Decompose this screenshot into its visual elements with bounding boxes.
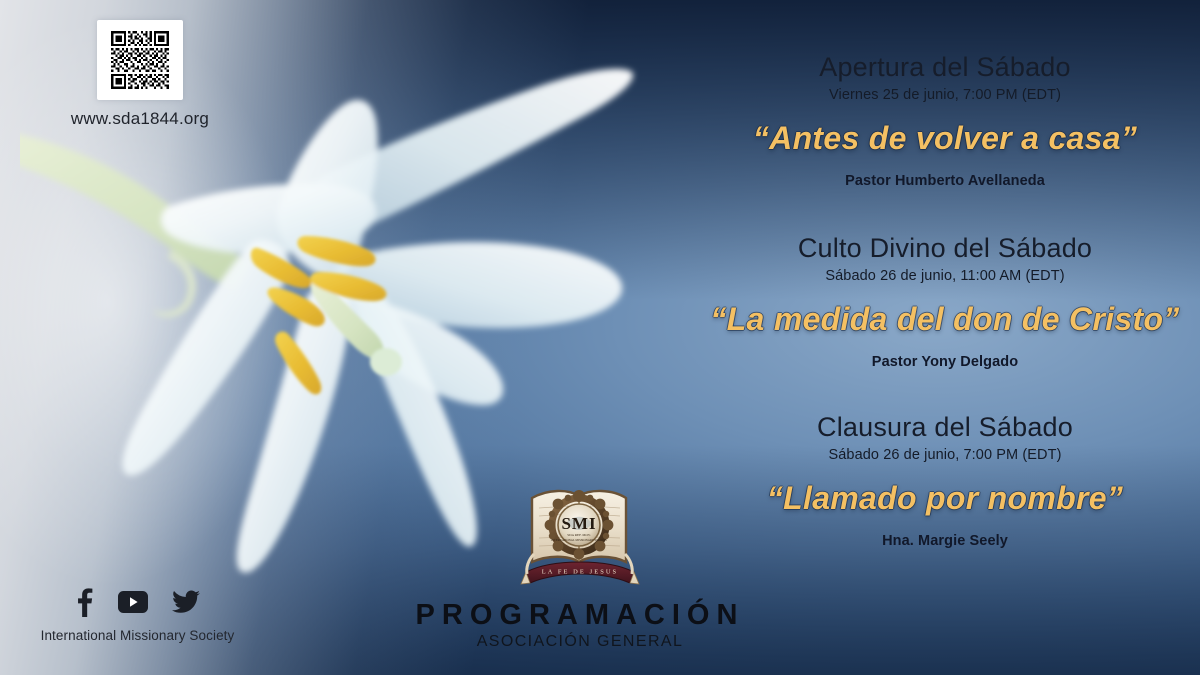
website-url[interactable]: www.sda1844.org <box>55 109 225 129</box>
qr-block: www.sda1844.org <box>55 20 225 129</box>
facebook-icon[interactable] <box>76 587 94 617</box>
session-title: Clausura del Sábado <box>690 412 1200 442</box>
svg-text:SDA REF. MOV.: SDA REF. MOV. <box>567 533 591 537</box>
twitter-icon[interactable] <box>172 590 200 614</box>
session-title: Culto Divino del Sábado <box>690 233 1200 263</box>
smi-crest-logo: SMI SDA REF. MOV. INTERNATIONAL MISSIONA… <box>520 480 640 592</box>
session-speaker: Hna. Margie Seely <box>690 533 1200 549</box>
session-datetime: Viernes 25 de junio, 7:00 PM (EDT) <box>690 87 1200 103</box>
event-poster: www.sda1844.org International Missionary… <box>0 0 1200 675</box>
organization-label: International Missionary Society <box>30 628 245 643</box>
social-icon-row <box>30 587 245 617</box>
session-datetime: Sábado 26 de junio, 11:00 AM (EDT) <box>690 268 1200 284</box>
social-block: International Missionary Society <box>30 587 245 643</box>
program-schedule: Apertura del Sábado Viernes 25 de junio,… <box>690 0 1200 675</box>
session-block-2: Culto Divino del Sábado Sábado 26 de jun… <box>690 233 1200 370</box>
session-sermon-title: “Antes de volver a casa” <box>690 120 1200 158</box>
session-datetime: Sábado 26 de junio, 7:00 PM (EDT) <box>690 447 1200 463</box>
session-speaker: Pastor Yony Delgado <box>690 354 1200 370</box>
svg-text:SMI: SMI <box>561 514 596 533</box>
svg-text:LA FE DE JESUS: LA FE DE JESUS <box>542 568 618 575</box>
youtube-icon[interactable] <box>118 591 148 613</box>
session-block-1: Apertura del Sábado Viernes 25 de junio,… <box>690 52 1200 189</box>
session-sermon-title: “Llamado por nombre” <box>690 480 1200 518</box>
svg-text:INTERNATIONAL MISSIONARY SOCIE: INTERNATIONAL MISSIONARY SOCIETY <box>551 538 608 542</box>
qr-code-icon[interactable] <box>97 20 183 100</box>
session-sermon-title: “La medida del don de Cristo” <box>690 301 1200 339</box>
session-title: Apertura del Sábado <box>690 52 1200 82</box>
session-block-3: Clausura del Sábado Sábado 26 de junio, … <box>690 412 1200 549</box>
session-speaker: Pastor Humberto Avellaneda <box>690 173 1200 189</box>
